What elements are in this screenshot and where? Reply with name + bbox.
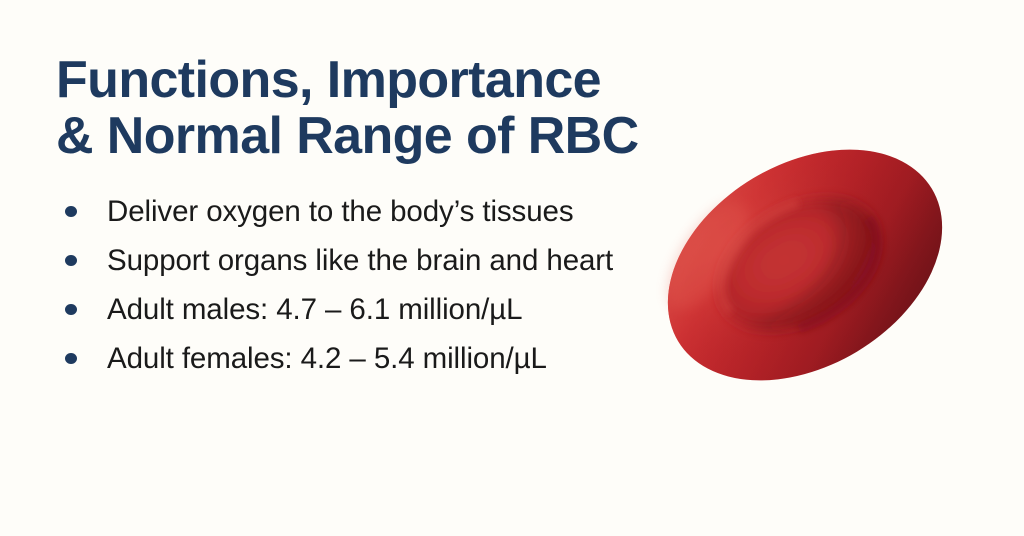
list-item-label: Support organs like the brain and heart xyxy=(107,242,673,279)
bullet-dot-icon xyxy=(65,304,77,315)
slide-canvas: Functions, Importance & Normal Range of … xyxy=(0,0,1024,536)
red-blood-cell-illustration xyxy=(655,145,955,385)
list-item: Deliver oxygen to the body’s tissues xyxy=(58,193,673,230)
list-item: Support organs like the brain and heart xyxy=(58,242,673,279)
list-item: Adult males: 4.7 – 6.1 million/µL xyxy=(58,291,673,328)
red-blood-cell-icon xyxy=(655,145,955,385)
bullet-dot-icon xyxy=(65,353,77,364)
list-item-label: Adult males: 4.7 – 6.1 million/µL xyxy=(107,291,673,328)
list-item: Adult females: 4.2 – 5.4 million/µL xyxy=(58,340,673,377)
title-line-1: Functions, Importance xyxy=(56,52,776,108)
bullet-dot-icon xyxy=(65,206,77,217)
list-item-label: Deliver oxygen to the body’s tissues xyxy=(107,193,673,230)
bullet-dot-icon xyxy=(65,255,77,266)
fact-bullet-list: Deliver oxygen to the body’s tissues Sup… xyxy=(58,193,673,377)
list-item-label: Adult females: 4.2 – 5.4 million/µL xyxy=(107,340,673,377)
